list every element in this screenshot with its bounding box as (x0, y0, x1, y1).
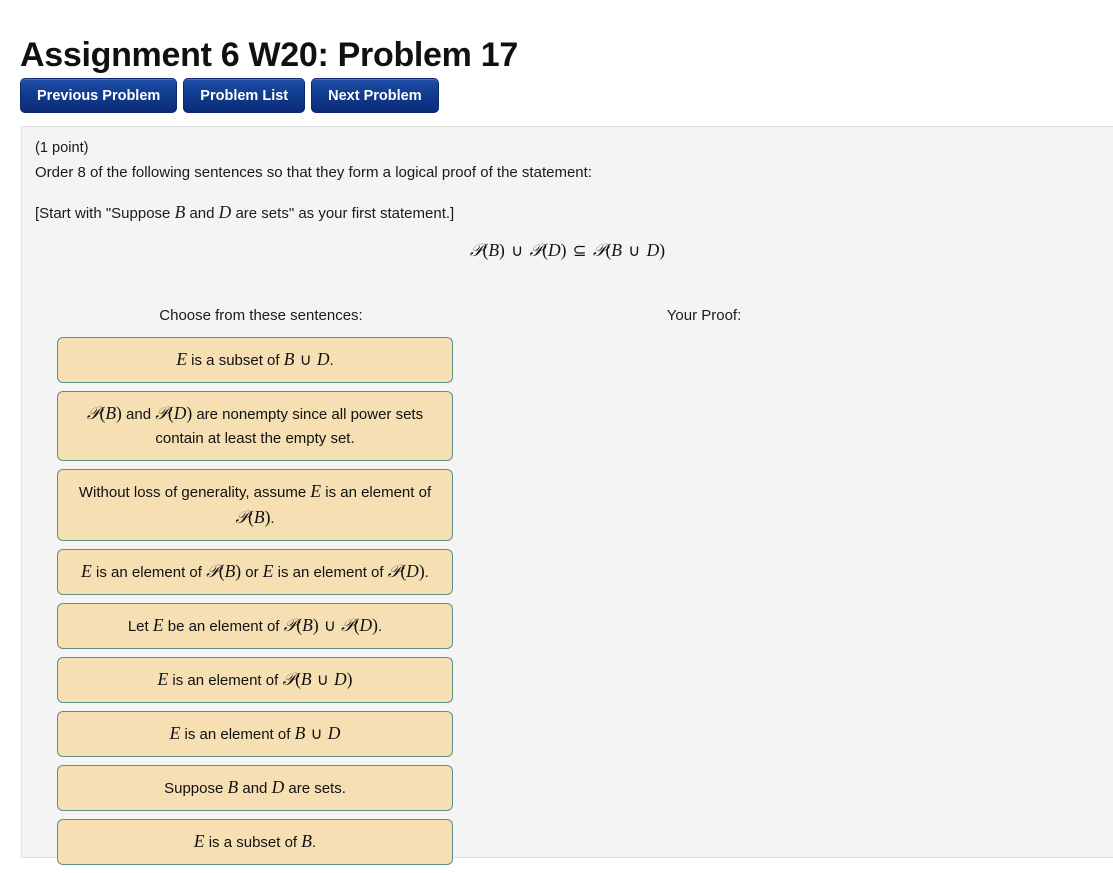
sentence-tile[interactable]: E is an element of 𝒫(B) or E is an eleme… (57, 549, 453, 595)
sentence-tile[interactable]: Suppose B and D are sets. (57, 765, 453, 811)
sentence-tile[interactable]: E is an element of B ∪ D (57, 711, 453, 757)
start-hint-text: [Start with "Suppose B and D are sets" a… (35, 202, 454, 224)
start-hint-var-b: B (175, 202, 186, 222)
proof-column-header: Your Proof: (499, 307, 909, 324)
previous-problem-button[interactable]: Previous Problem (20, 78, 177, 113)
sentence-tile[interactable]: Let E be an element of 𝒫(B) ∪ 𝒫(D). (57, 603, 453, 649)
choices-column-header: Choose from these sentences: (56, 307, 466, 324)
start-hint-prefix: [Start with "Suppose (35, 205, 175, 222)
page-title: Assignment 6 W20: Problem 17 (20, 35, 518, 75)
statement-formula: 𝒫(B) ∪ 𝒫(D) ⊆ 𝒫(B ∪ D) (22, 237, 1113, 264)
problem-page: Assignment 6 W20: Problem 17 Previous Pr… (0, 0, 1113, 868)
point-value: (1 point) (35, 138, 89, 158)
proof-column[interactable] (500, 337, 896, 377)
problem-panel: (1 point) Order 8 of the following sente… (21, 126, 1113, 858)
next-problem-button[interactable]: Next Problem (311, 78, 438, 113)
navigation-buttons: Previous Problem Problem List Next Probl… (20, 78, 439, 113)
start-hint-mid: and (185, 205, 218, 222)
start-hint-var-d: D (219, 202, 232, 222)
sentence-tile[interactable]: 𝒫(B) and 𝒫(D) are nonempty since all pow… (57, 391, 453, 461)
start-hint-suffix: are sets" as your first statement.] (231, 205, 454, 222)
sentence-tile[interactable]: Without loss of generality, assume E is … (57, 469, 453, 541)
instruction-text: Order 8 of the following sentences so th… (35, 162, 592, 183)
choices-column[interactable]: E is a subset of B ∪ D.𝒫(B) and 𝒫(D) are… (57, 337, 453, 873)
problem-list-button[interactable]: Problem List (183, 78, 305, 113)
sentence-tile[interactable]: E is a subset of B ∪ D. (57, 337, 453, 383)
sentence-tile[interactable]: E is a subset of B. (57, 819, 453, 865)
columns-header: Choose from these sentences: Your Proof: (22, 307, 1113, 329)
sentence-tile[interactable]: E is an element of 𝒫(B ∪ D) (57, 657, 453, 703)
